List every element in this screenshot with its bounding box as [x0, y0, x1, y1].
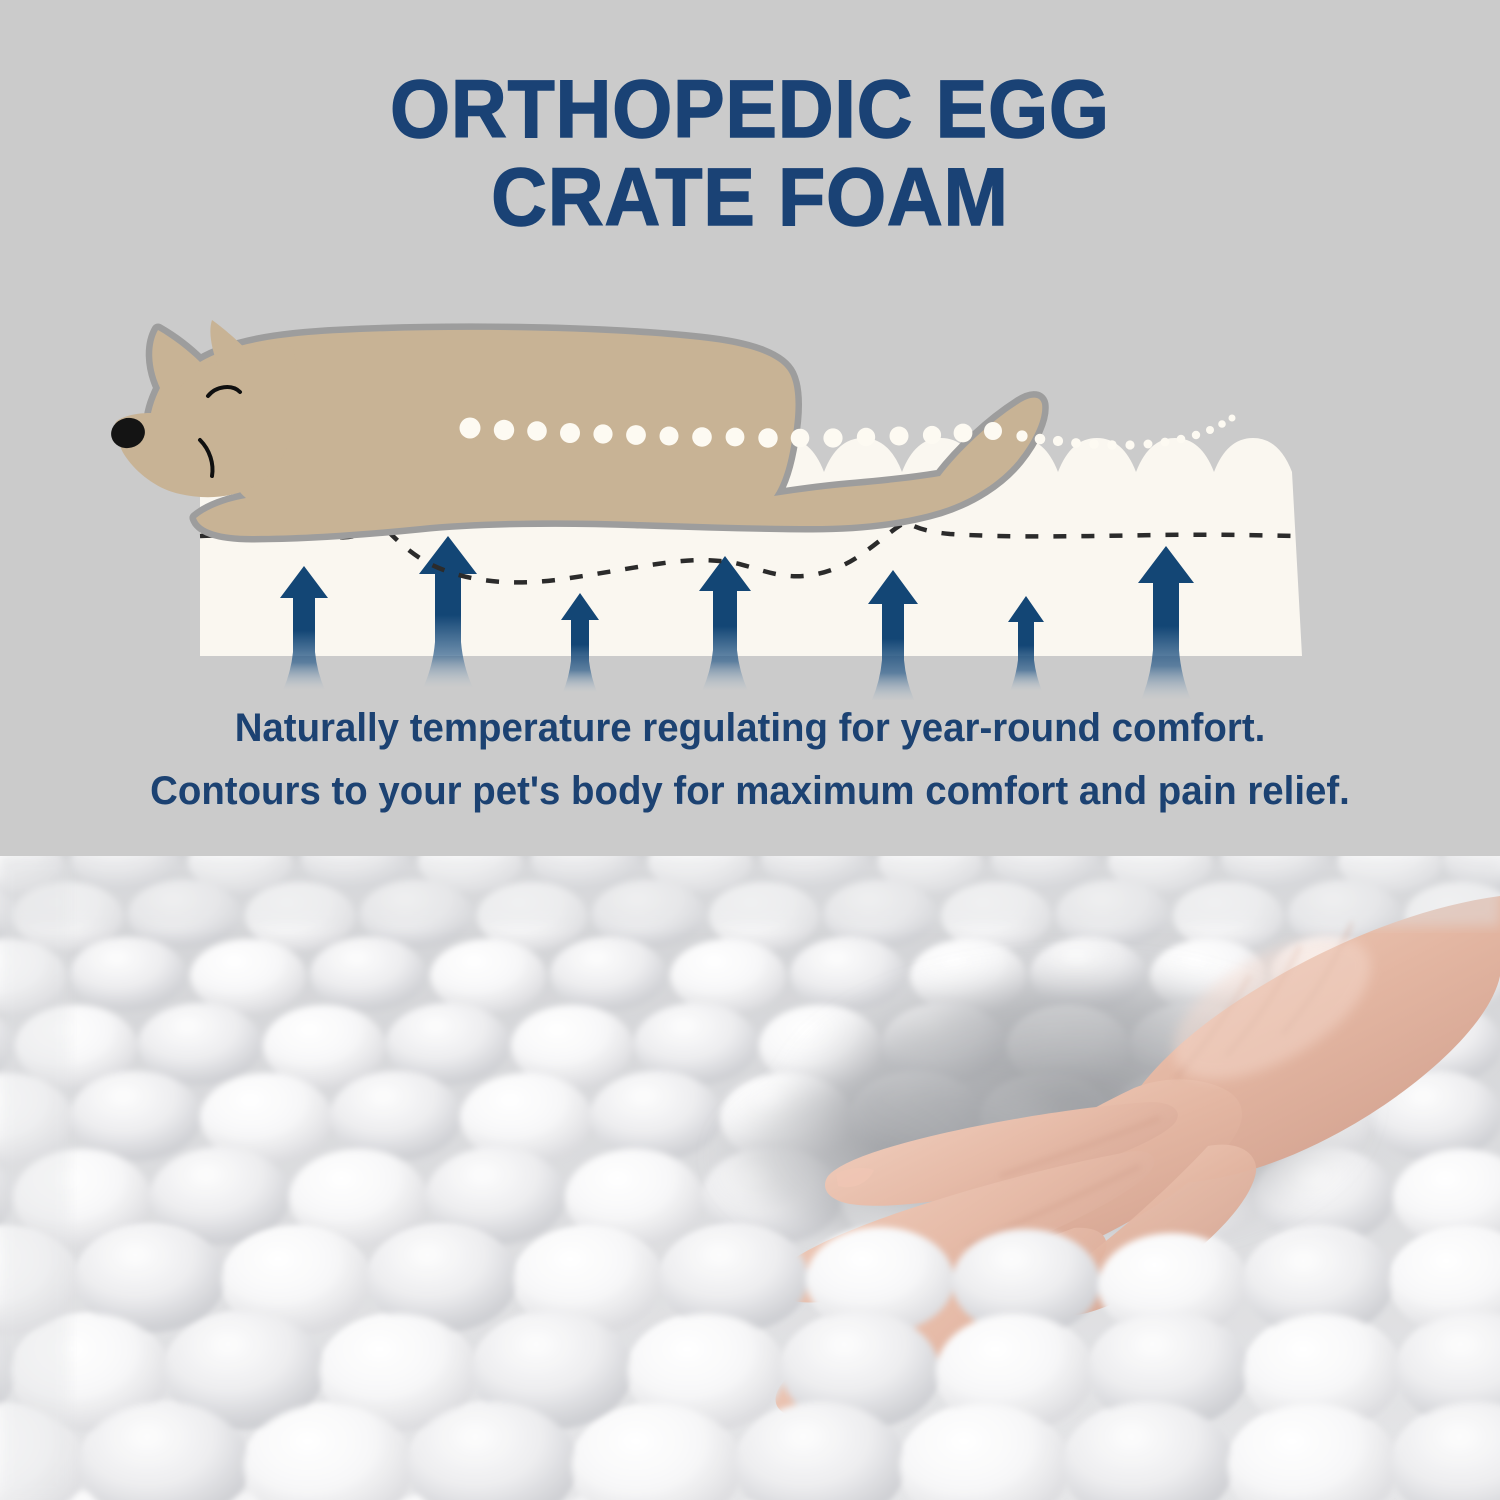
illustration-svg: [0, 300, 1500, 700]
info-panel: ORTHOPEDIC EGG CRATE FOAM: [0, 0, 1500, 856]
body-copy: Naturally temperature regulating for yea…: [0, 697, 1500, 823]
copy-line-2: Contours to your pet's body for maximum …: [30, 760, 1470, 823]
foam-foreground-peaks: [0, 1225, 1500, 1500]
foam-texture-photo: [0, 856, 1500, 1500]
dog-on-foam-illustration: [0, 300, 1500, 700]
title-line-2: CRATE FOAM: [45, 154, 1455, 242]
page-title: ORTHOPEDIC EGG CRATE FOAM: [0, 66, 1500, 242]
title-line-1: ORTHOPEDIC EGG: [45, 66, 1455, 154]
copy-line-1: Naturally temperature regulating for yea…: [30, 697, 1470, 760]
product-infographic: ORTHOPEDIC EGG CRATE FOAM: [0, 0, 1500, 1500]
foam-photo-svg: [0, 856, 1500, 1500]
